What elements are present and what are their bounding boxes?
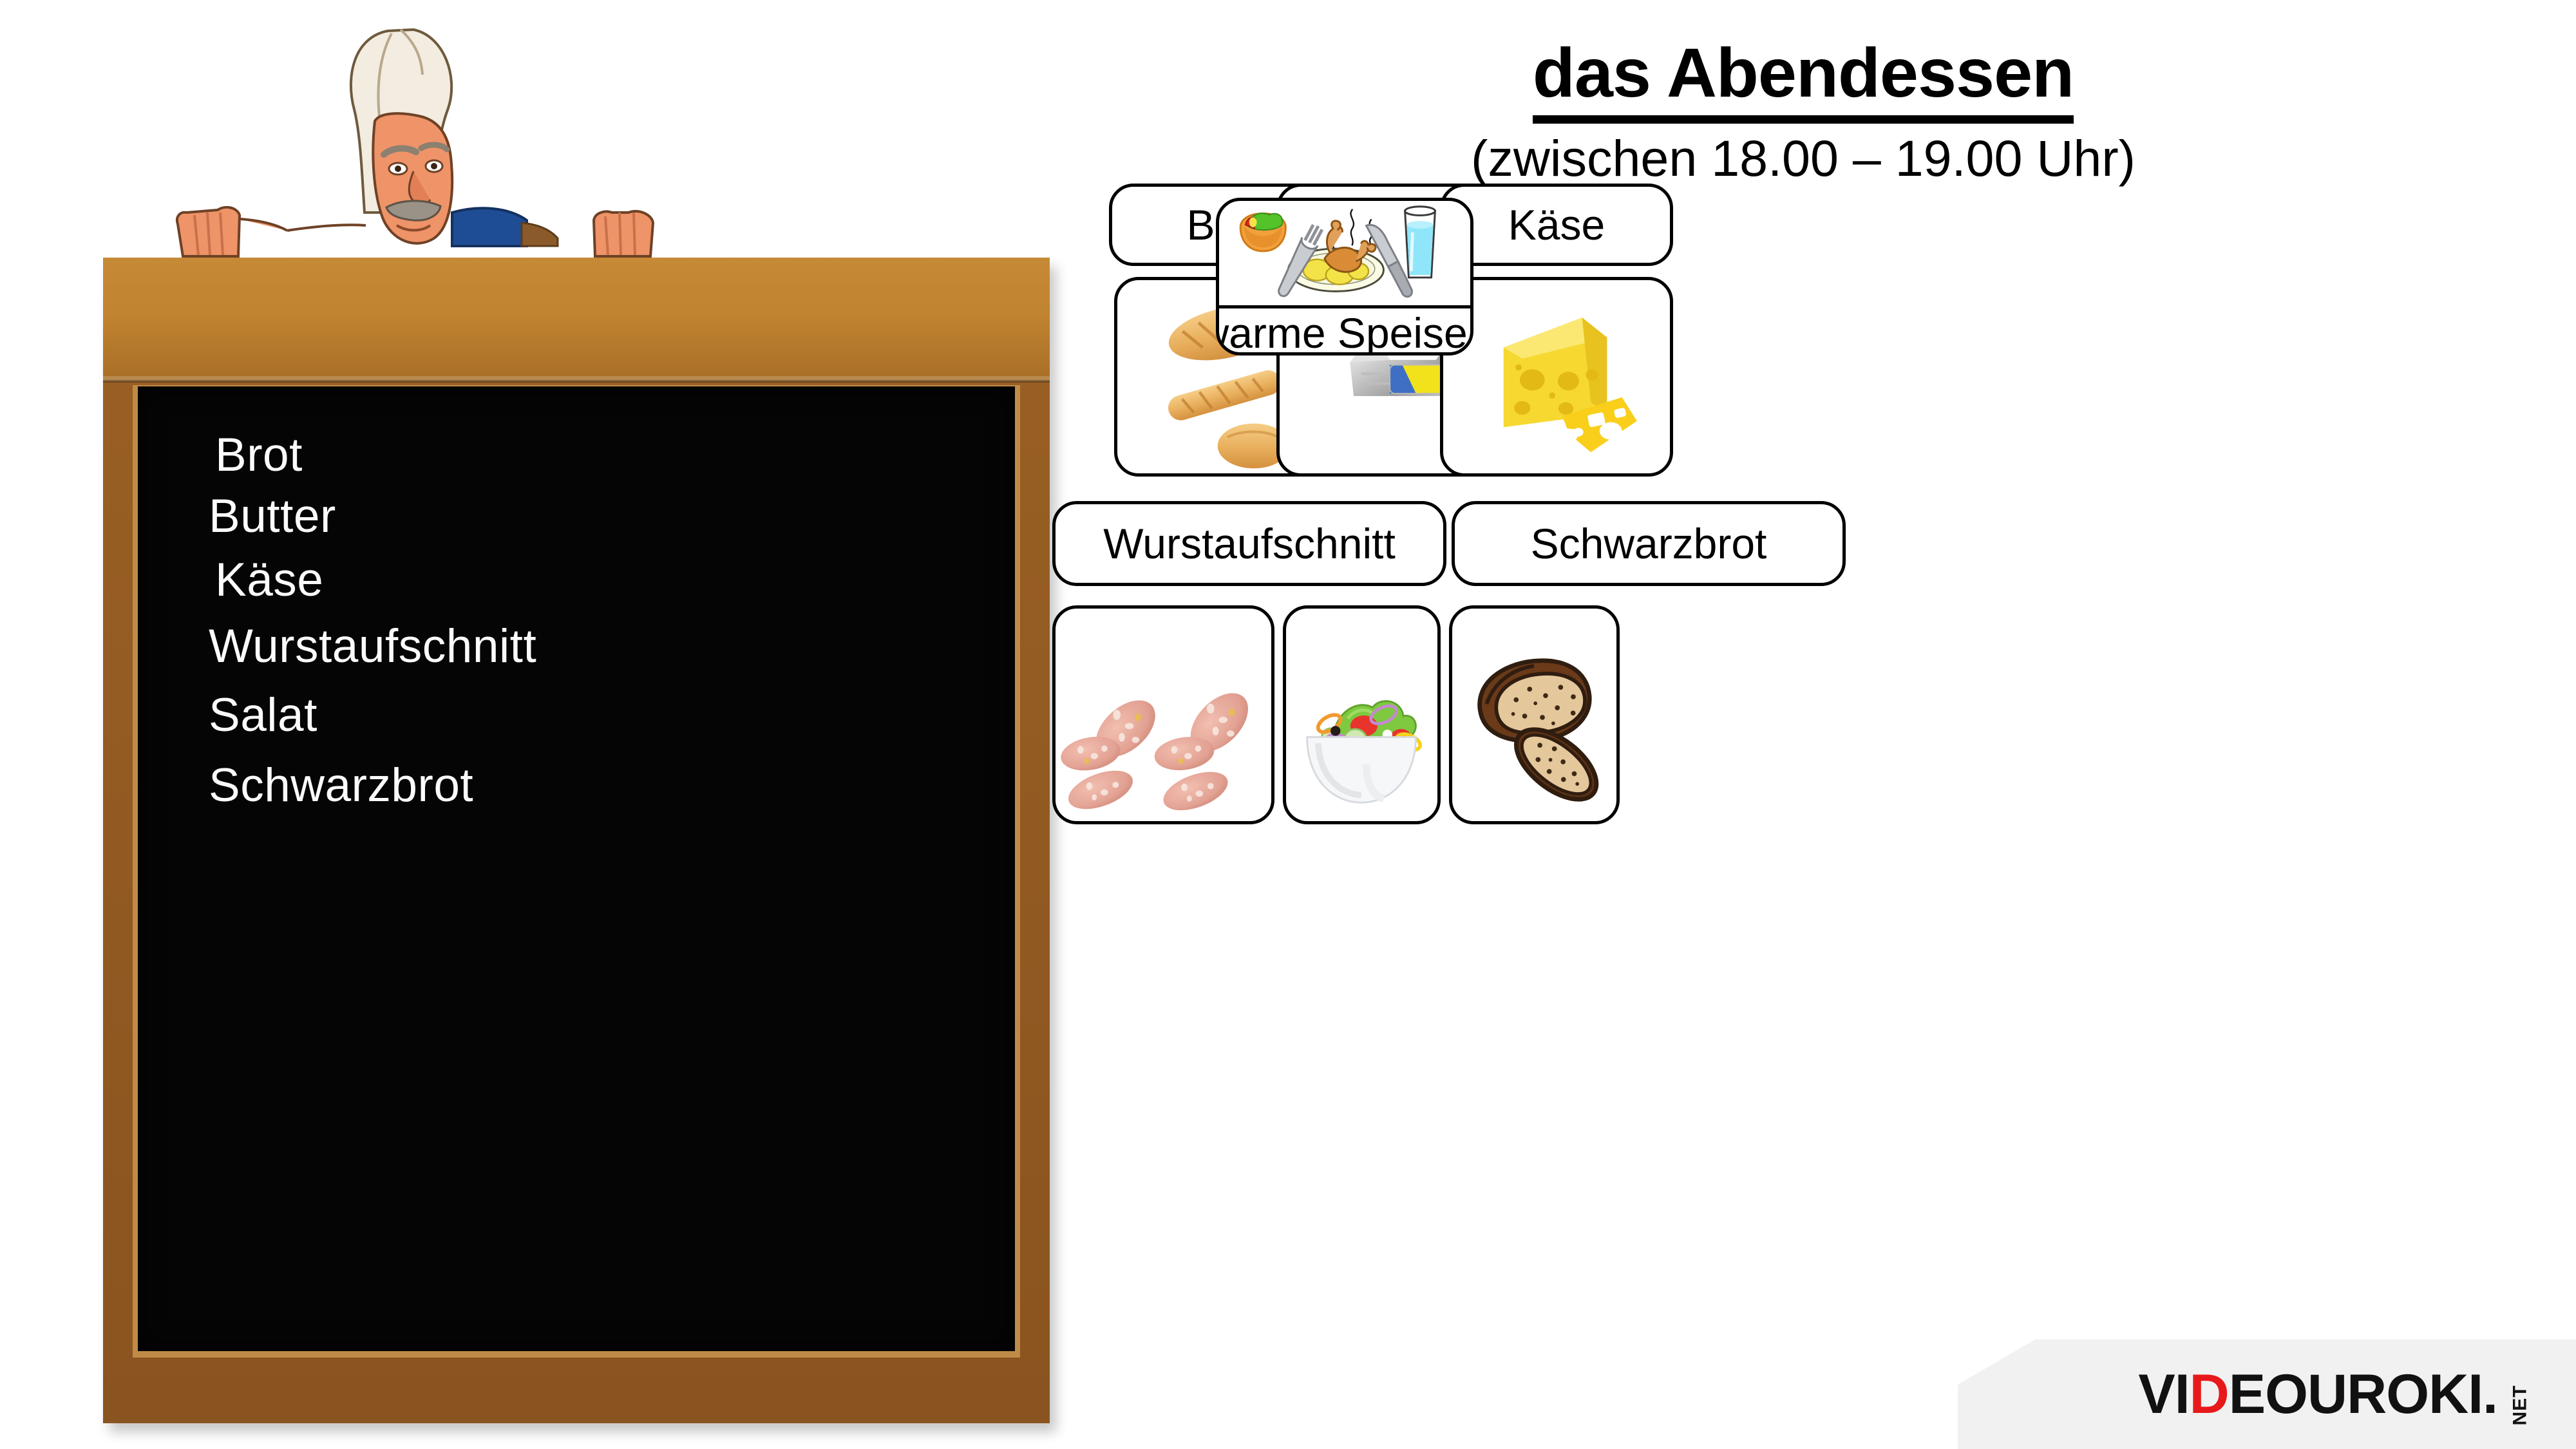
label-card-text: Schwarzbrot [1531, 519, 1767, 568]
chalkboard-panel: Brot Butter Käse Wurstaufschnitt Salat S… [39, 19, 1082, 1430]
logo-part-3: EOUROKI. [2229, 1363, 2497, 1426]
chalkboard-item: Salat [209, 692, 1002, 739]
chalkboard-item: Brot [215, 431, 1002, 478]
overlay-card-label: warme Speisen [1219, 308, 1470, 355]
label-card-kaese[interactable]: Käse [1440, 184, 1673, 266]
chalkboard-item: Butter [209, 493, 1002, 540]
chalkboard-frame: Brot Butter Käse Wurstaufschnitt Salat S… [103, 258, 1050, 1423]
hot-meal-icon [1219, 201, 1470, 305]
chef-character-illustration [161, 19, 689, 277]
chalkboard-menu-list: Brot Butter Käse Wurstaufschnitt Salat S… [209, 431, 1002, 809]
page-title-text: das Abendessen [1533, 33, 2074, 124]
chalkboard-slate: Brot Butter Käse Wurstaufschnitt Salat S… [138, 386, 1015, 1351]
logo-tld: NET [2510, 1385, 2532, 1425]
picture-card-schwarzbrot[interactable] [1449, 605, 1620, 824]
salami-slices-icon [1056, 609, 1271, 821]
picture-card-kaese[interactable] [1440, 277, 1673, 477]
salad-bowl-icon [1286, 609, 1437, 821]
logo-part-2: D [2190, 1363, 2229, 1426]
chalkboard-item: Käse [215, 556, 1002, 603]
picture-card-wurstaufschnitt[interactable] [1052, 605, 1274, 824]
logo-part-1: VI [2138, 1363, 2189, 1426]
videouroki-logo-banner: VIDEOUROKI.NET [1958, 1340, 2576, 1449]
page-subtitle: (zwischen 18.00 – 19.00 Uhr) [1030, 129, 2576, 188]
label-card-text: Käse [1508, 200, 1605, 249]
overlay-card-image [1219, 201, 1470, 308]
cheese-wedge-icon [1443, 280, 1670, 473]
picture-card-salat[interactable] [1283, 605, 1441, 824]
dark-bread-icon [1452, 609, 1616, 821]
menu-panel: das Abendessen (zwischen 18.00 – 19.00 U… [1030, 0, 2576, 1449]
videouroki-logo: VIDEOUROKI.NET [2138, 1363, 2541, 1426]
label-card-text: Wurstaufschnitt [1103, 519, 1396, 568]
label-card-wurstaufschnitt[interactable]: Wurstaufschnitt [1052, 501, 1446, 586]
chalkboard-item: Schwarzbrot [209, 762, 1002, 809]
label-card-schwarzbrot[interactable]: Schwarzbrot [1452, 501, 1846, 586]
page-title: das Abendessen [1030, 32, 2576, 113]
chalkboard-top-plank [103, 258, 1050, 383]
overlay-card-warme-speisen[interactable]: warme Speisen [1216, 198, 1473, 355]
chalkboard-item: Wurstaufschnitt [209, 623, 1002, 670]
overlay-card-label-text: warme Speisen [1216, 308, 1473, 355]
